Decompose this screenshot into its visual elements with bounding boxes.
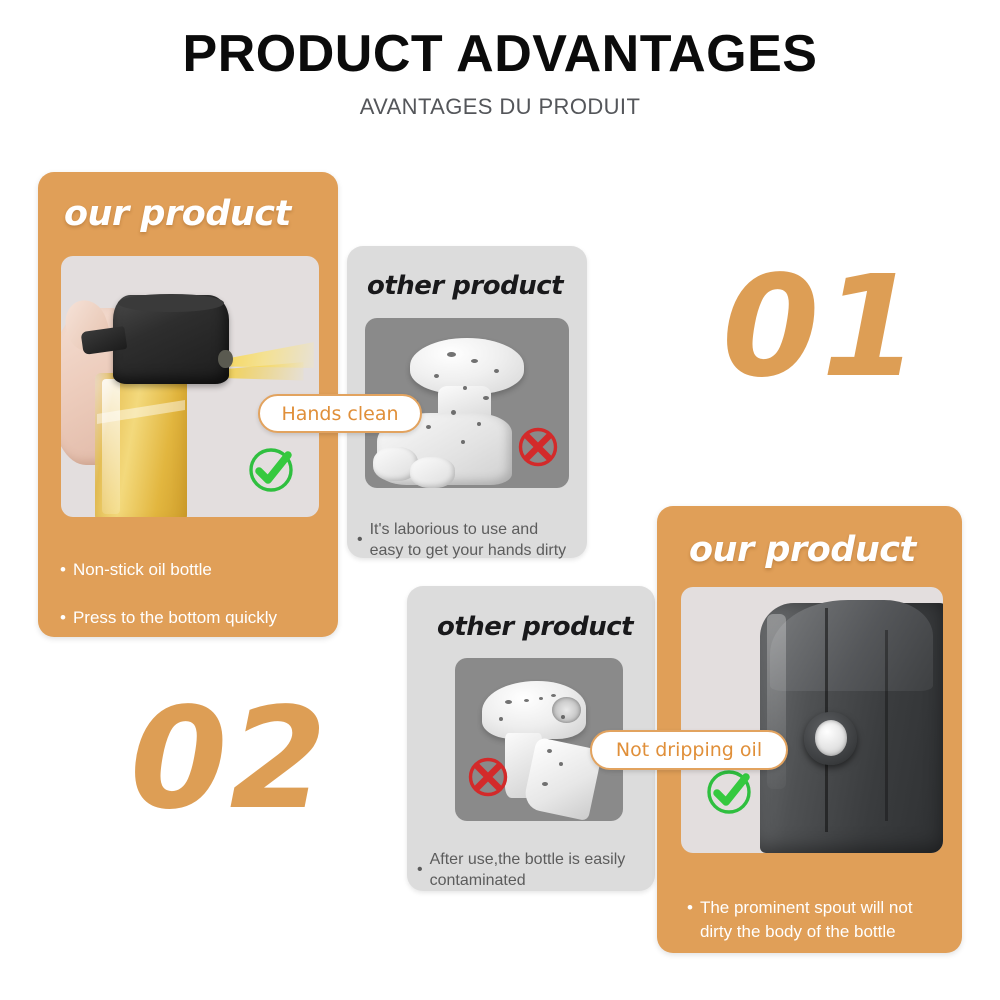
dirt-speck bbox=[494, 369, 499, 373]
our-product-bullet-1-2: Double the effect bbox=[73, 655, 201, 679]
page-subtitle: AVANTAGES DU PRODUIT bbox=[0, 94, 1000, 120]
our-product-bullet-2-0: The prominent spout will not dirty the b… bbox=[700, 896, 945, 944]
other-product-heading-1: other product bbox=[367, 271, 563, 301]
dirt-speck bbox=[447, 352, 456, 357]
bullet-marker: • bbox=[60, 606, 66, 630]
prominent-spout-2 bbox=[815, 720, 848, 756]
bullet-marker: • bbox=[60, 558, 66, 582]
dirt-speck bbox=[561, 715, 565, 719]
dirt-speck bbox=[524, 699, 529, 702]
bullet-marker: • bbox=[687, 896, 693, 920]
other-product-caption-2: After use,the bottle is easily contamina… bbox=[430, 849, 626, 891]
hands-clean-badge: Hands clean bbox=[258, 394, 422, 433]
body-seam-secondary bbox=[885, 630, 888, 822]
cross-circle-icon-2 bbox=[465, 754, 511, 805]
bullet-marker: • bbox=[417, 859, 423, 882]
bullet-marker: • bbox=[357, 529, 363, 552]
spout-ring-2 bbox=[552, 697, 581, 723]
check-circle-icon-2 bbox=[701, 764, 757, 825]
page-title: PRODUCT ADVANTAGES bbox=[0, 24, 1000, 84]
our-product-bullets-1: • Non-stick oil bottle • Press to the bo… bbox=[60, 534, 330, 703]
dirt-speck bbox=[499, 717, 503, 721]
step-number-02: 02 bbox=[130, 690, 329, 830]
other-product-caption-block-2: • After use,the bottle is easily contami… bbox=[417, 828, 653, 912]
dirt-speck bbox=[471, 359, 478, 363]
not-dripping-oil-badge: Not dripping oil bbox=[590, 730, 788, 770]
bullet-marker: • bbox=[60, 655, 66, 679]
our-product-heading-1: our product bbox=[64, 194, 291, 234]
bottle-highlight bbox=[102, 379, 120, 515]
step-number-01: 01 bbox=[722, 258, 921, 398]
dirt-speck bbox=[463, 386, 467, 390]
other-product-heading-2: other product bbox=[437, 612, 633, 642]
spray-nozzle-nub bbox=[218, 350, 232, 368]
dirt-speck bbox=[551, 694, 556, 697]
dirt-speck bbox=[451, 410, 456, 415]
check-circle-icon-1 bbox=[243, 442, 299, 503]
finger-shape-b bbox=[410, 457, 455, 488]
cross-circle-icon-1 bbox=[515, 424, 561, 475]
our-product-bullets-2: • The prominent spout will not dirty the… bbox=[687, 872, 945, 969]
other-product-caption-block-1: • It's laborious to use and easy to get … bbox=[357, 498, 583, 582]
our-product-heading-2: our product bbox=[689, 530, 916, 570]
dirt-speck bbox=[477, 422, 481, 426]
our-product-bullet-1-0: Non-stick oil bottle bbox=[73, 558, 212, 582]
dispenser-shoulder-2 bbox=[770, 600, 932, 690]
other-product-caption-1: It's laborious to use and easy to get yo… bbox=[370, 519, 567, 561]
cap-top-disc bbox=[118, 294, 224, 312]
our-product-bullet-1-1: Press to the bottom quickly bbox=[73, 606, 277, 630]
